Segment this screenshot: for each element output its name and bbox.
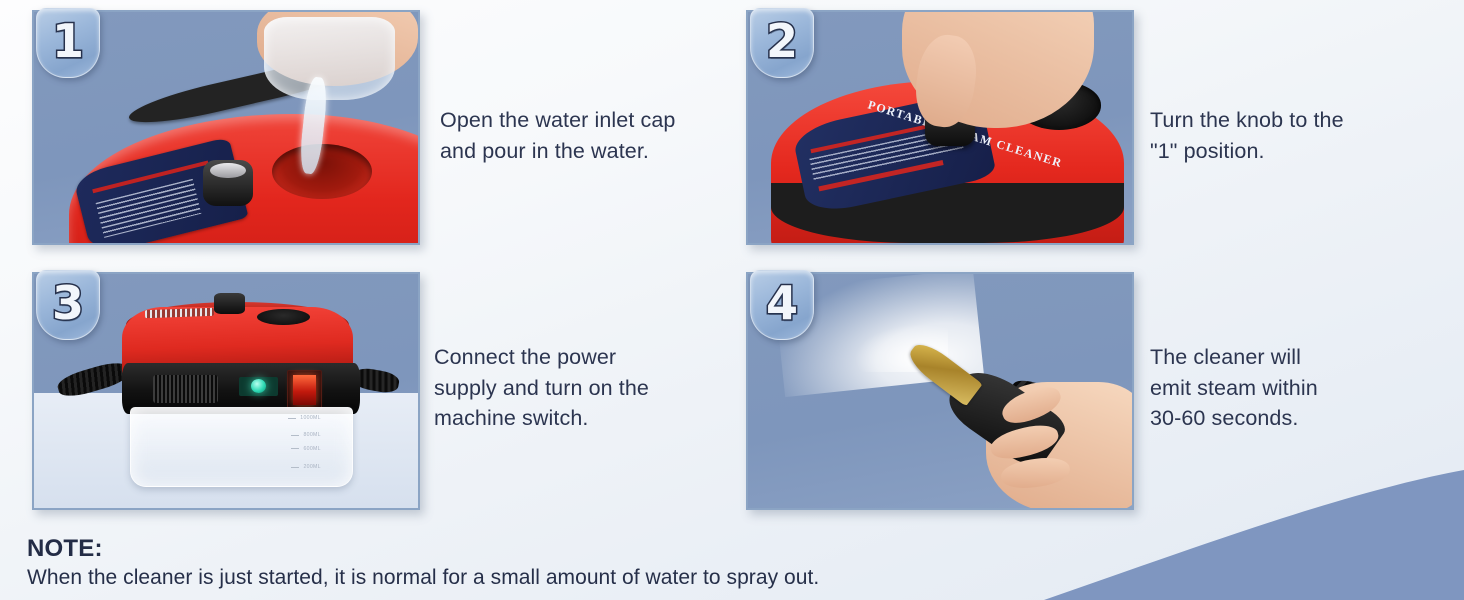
step-caption-3: Connect the power supply and turn on the…: [434, 342, 704, 434]
note-title: NOTE:: [27, 535, 819, 563]
step-number-label: 1: [52, 18, 84, 64]
tank-marking-600ml: 600ML: [303, 446, 320, 452]
water-cup: [264, 17, 395, 100]
tank-marking-200ml: 200ML: [303, 464, 320, 470]
step-panel-4: 4 The cleaner will emit steam within 30-…: [732, 260, 1464, 522]
note-body: When the cleaner is just started, it is …: [27, 566, 819, 590]
tank-marking-1000ml: 1000ML: [300, 415, 321, 421]
step-caption-4: The cleaner will emit steam within 30-60…: [1150, 342, 1430, 434]
step-caption-1: Open the water inlet cap and pour in the…: [440, 105, 720, 166]
step-number-label: 2: [766, 18, 798, 64]
water-tank: 1000ML 800ML 600ML 200ML: [130, 407, 353, 487]
control-knob: [214, 293, 245, 314]
step-badge-3: 3: [36, 270, 100, 340]
step-panel-1: 1 Open the water inlet cap and pour in t…: [0, 0, 732, 260]
vent-grille: [153, 375, 218, 403]
tank-marking-800ml: 800ML: [303, 432, 320, 438]
step-badge-2: 2: [750, 8, 814, 78]
step-panel-2: PORTABLE STEAM CLEANER 2 Turn the knob t…: [732, 0, 1464, 260]
step-number-label: 3: [52, 280, 84, 326]
note-section: NOTE: When the cleaner is just started, …: [27, 535, 819, 590]
water-inlet-opening: [272, 144, 372, 199]
step-badge-4: 4: [750, 270, 814, 340]
step-caption-2: Turn the knob to the "1" position.: [1150, 105, 1440, 166]
step-panel-3: 1000ML 800ML 600ML 200ML 3 Connect the p…: [0, 260, 732, 522]
machine-power-switch: [287, 370, 322, 410]
step-number-label: 4: [766, 280, 798, 326]
control-knob: [203, 160, 253, 206]
step-badge-1: 1: [36, 8, 100, 78]
